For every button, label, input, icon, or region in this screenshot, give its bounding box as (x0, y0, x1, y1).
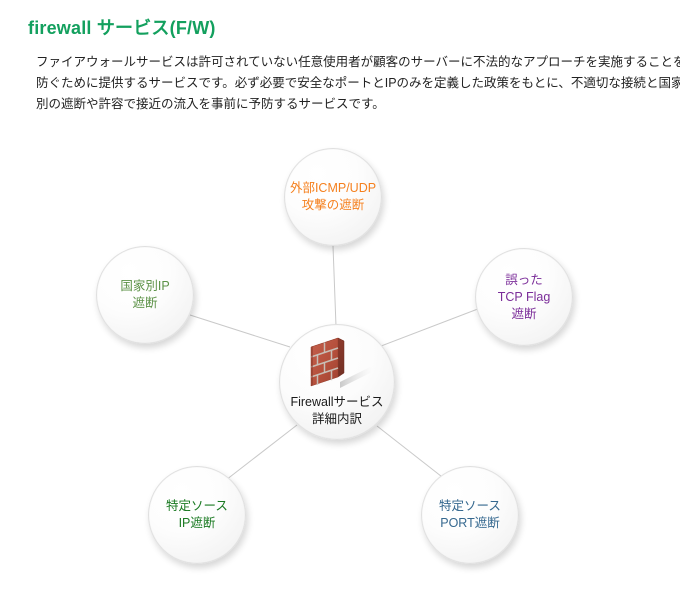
firewall-service-diagram: Firewallサービス 詳細内訳 外部ICMP/UDP 攻撃の遮断 誤った T… (0, 130, 680, 590)
diagram-node-center[interactable]: Firewallサービス 詳細内訳 (279, 324, 395, 440)
page-title: firewall サービス(F/W) (28, 14, 216, 40)
diagram-node-source-port-label: 特定ソース PORT遮断 (439, 498, 501, 532)
connector-center-to-country-ip (190, 315, 290, 347)
diagram-node-source-ip[interactable]: 特定ソース IP遮断 (148, 466, 246, 564)
diagram-node-icmp-udp[interactable]: 外部ICMP/UDP 攻撃の遮断 (284, 148, 382, 246)
diagram-node-source-ip-label: 特定ソース IP遮断 (166, 498, 228, 532)
diagram-node-country-ip-label: 国家別IP 遮断 (120, 278, 169, 312)
connector-center-to-source-ip (226, 425, 297, 480)
diagram-node-source-port[interactable]: 特定ソース PORT遮断 (421, 466, 519, 564)
diagram-node-tcp-flag[interactable]: 誤った TCP Flag 遮断 (475, 248, 573, 346)
intro-line-1: ファイアウォールサービスは許可されていない任意使用者が顧客のサーバーに不法的なア… (36, 52, 650, 73)
diagram-node-tcp-flag-label: 誤った TCP Flag 遮断 (498, 272, 551, 323)
connector-center-to-source-port (377, 426, 446, 480)
intro-line-2: 防ぐために提供するサービスです。必ず必要で安全なポートとIPのみを定義した政策を… (36, 73, 650, 94)
diagram-node-center-label: Firewallサービス 詳細内訳 (290, 394, 383, 428)
intro-paragraph: ファイアウォールサービスは許可されていない任意使用者が顧客のサーバーに不法的なア… (36, 52, 650, 115)
connector-center-to-tcp-flag (381, 307, 483, 346)
intro-line-3: 別の遮断や許容で接近の流入を事前に予防するサービスです。 (36, 94, 650, 115)
connector-center-to-icmp-udp (333, 246, 336, 326)
firewall-brick-wall-icon (300, 336, 374, 390)
diagram-node-icmp-udp-label: 外部ICMP/UDP 攻撃の遮断 (290, 180, 376, 214)
diagram-node-country-ip[interactable]: 国家別IP 遮断 (96, 246, 194, 344)
